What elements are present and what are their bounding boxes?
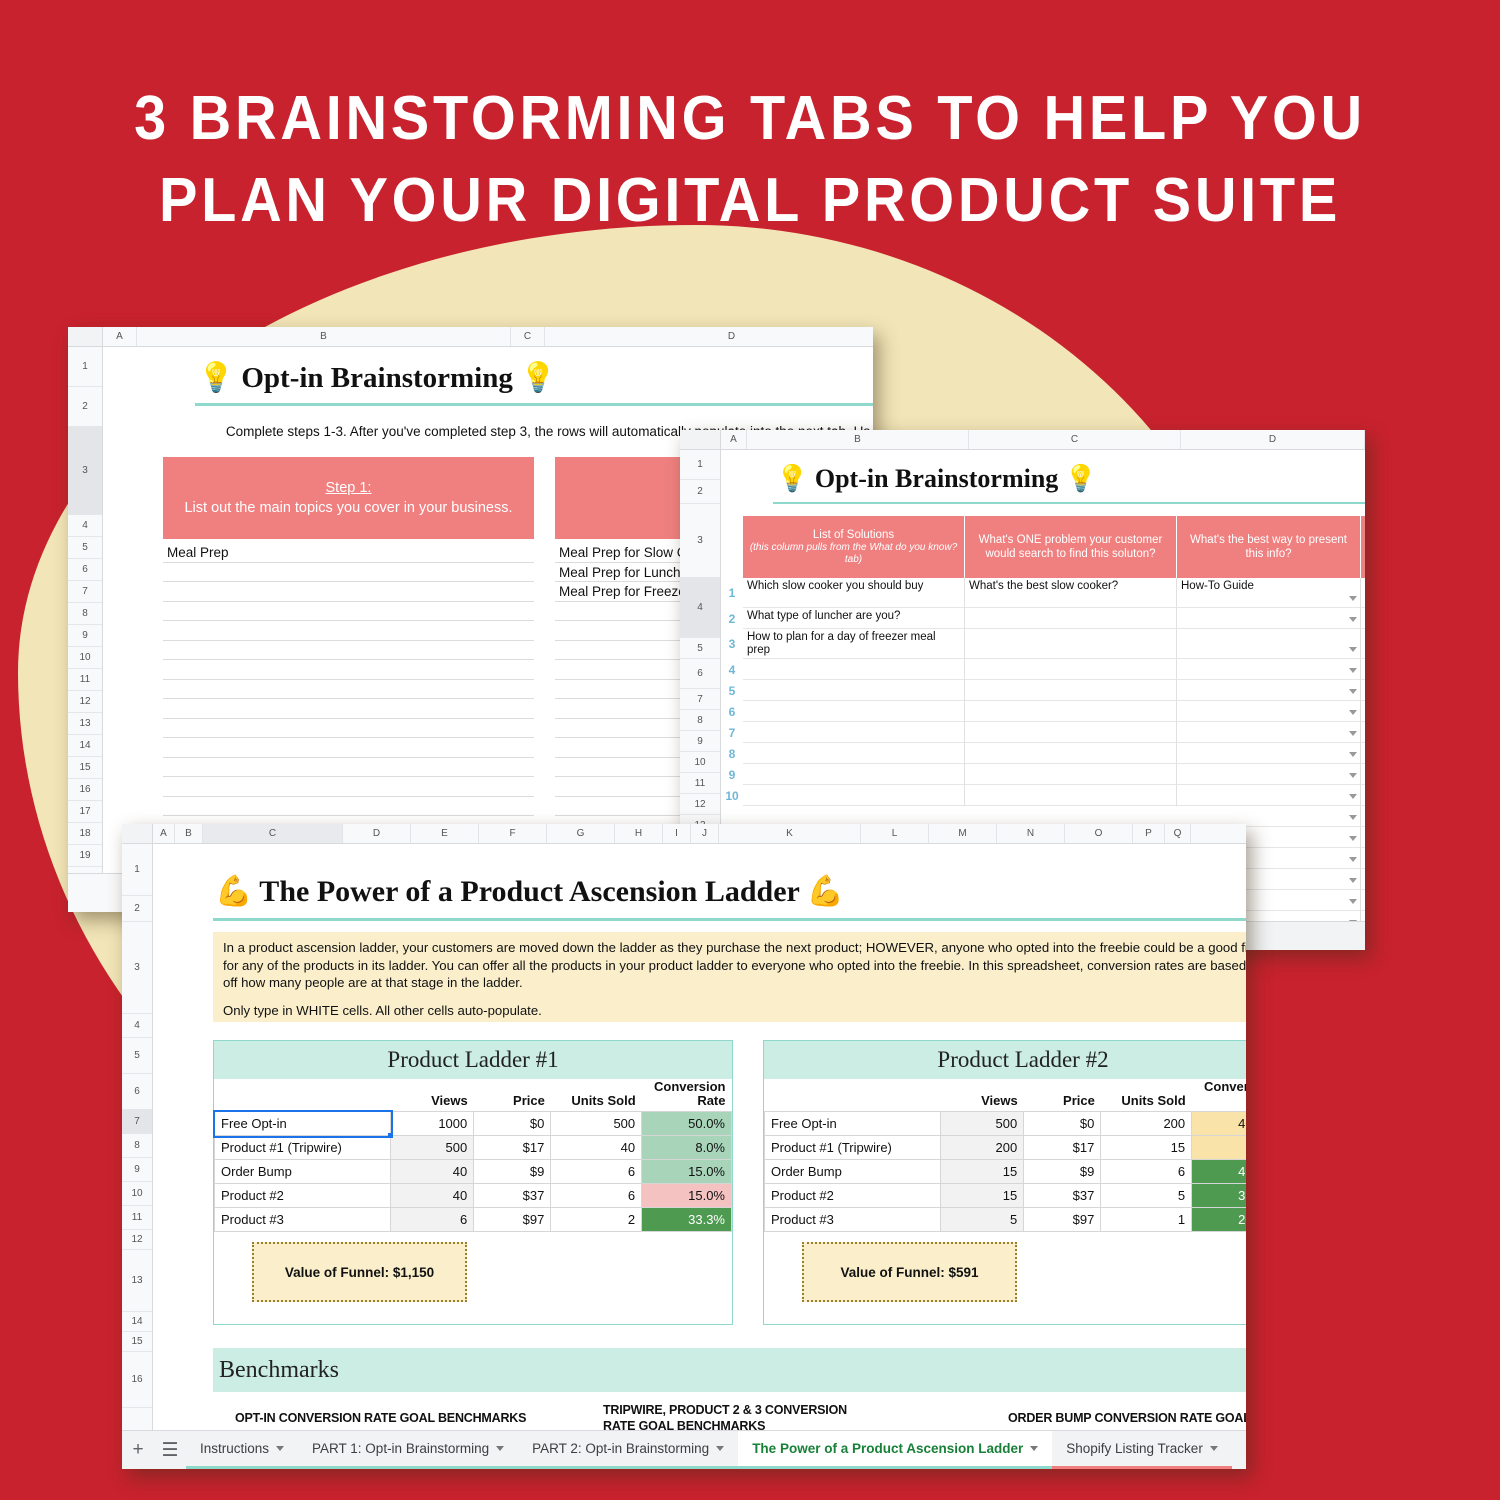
column-header-d-sheet2[interactable]: D (1181, 430, 1365, 449)
solution-cell[interactable] (743, 722, 965, 743)
page-title: 3 BRAINSTORMING TABS TO HELP YOU PLAN YO… (53, 78, 1448, 242)
dropdown-caret-icon[interactable] (1349, 731, 1357, 736)
product-ladder-1-panel: Product Ladder #1 ViewsPriceUnits SoldCo… (213, 1040, 733, 1325)
ladder-product-name[interactable]: Free Opt-in (765, 1112, 941, 1136)
format-cell[interactable] (1177, 629, 1361, 659)
row-header-sheet1-18[interactable]: 18 (68, 823, 102, 845)
extra-cell[interactable] (1361, 701, 1365, 722)
row-header-sheet1-3[interactable]: 3 (68, 427, 102, 515)
ladder-views-value[interactable]: 6 (391, 1208, 474, 1232)
row-header-sheet2-5[interactable]: 5 (680, 638, 720, 659)
column-header-c-sheet2[interactable]: C (969, 430, 1181, 449)
product-ladder-2-table[interactable]: ViewsPriceUnits SoldConversionRateFree O… (764, 1079, 1246, 1232)
row-header-sheet2-10[interactable]: 10 (680, 752, 720, 773)
page-title-line-1: 3 BRAINSTORMING TABS TO HELP YOU (53, 78, 1448, 160)
column-header-a[interactable]: A (103, 327, 137, 346)
row-header-sheet2-2[interactable]: 2 (680, 480, 720, 504)
intro-paragraph-1: In a product ascension ladder, your cust… (223, 939, 1246, 992)
row-header-sheet3-12[interactable]: 12 (122, 1230, 152, 1250)
topic-cell[interactable] (163, 758, 534, 778)
format-cell[interactable]: How-To Guide (1177, 578, 1361, 608)
extra-cell[interactable]: The (1361, 578, 1365, 608)
row-header-sheet1-15[interactable]: 15 (68, 757, 102, 779)
ladder-product-name[interactable]: Free Opt-in (215, 1112, 391, 1136)
row-header-sheet1-9[interactable]: 9 (68, 625, 102, 647)
dropdown-caret-icon[interactable] (1349, 899, 1357, 904)
column-header-sheet3-F[interactable]: F (479, 824, 547, 843)
topic-cell[interactable] (163, 621, 534, 641)
dropdown-caret-icon[interactable] (1349, 815, 1357, 820)
topic-cell[interactable] (163, 699, 534, 719)
problem-cell[interactable] (965, 629, 1177, 659)
solution-cell[interactable]: What type of luncher are you? (743, 608, 965, 629)
solution-index-9: 9 (721, 764, 743, 785)
sheet1-title-rule (195, 403, 873, 406)
column-header-sheet3-P[interactable]: P (1133, 824, 1165, 843)
column-header-a-sheet2[interactable]: A (721, 430, 747, 449)
funnel-value-box-2: Value of Funnel: $591 (802, 1242, 1017, 1302)
tab-dropdown-caret-icon[interactable] (1030, 1446, 1038, 1451)
ladder-table-header-row: ViewsPriceUnits SoldConversionRate (765, 1079, 1247, 1112)
ladder-table-row[interactable]: Product #36$97233.3% (215, 1208, 732, 1232)
tab-dropdown-caret-icon[interactable] (496, 1446, 504, 1451)
header-best-format: What's the best way to present this info… (1177, 516, 1361, 578)
row-header-sheet2-9[interactable]: 9 (680, 731, 720, 752)
row-header-sheet3-1[interactable]: 1 (122, 844, 152, 896)
header-list-of-solutions: List of Solutions (this column pulls fro… (743, 516, 965, 578)
problem-cell[interactable] (965, 659, 1177, 680)
row-header-sheet1-2[interactable]: 2 (68, 387, 102, 427)
solution-cell[interactable] (743, 680, 965, 701)
empty-cell[interactable] (1361, 848, 1365, 869)
dropdown-caret-icon[interactable] (1349, 836, 1357, 841)
solution-index-8: 8 (721, 743, 743, 764)
column-header-sheet3-L[interactable]: L (861, 824, 929, 843)
ladder-conversion-rate-value[interactable]: 33.3% (1192, 1184, 1246, 1208)
row-header-sheet3-10[interactable]: 10 (122, 1182, 152, 1206)
sheet-tab-label: Instructions (200, 1441, 269, 1456)
intro-note-box: In a product ascension ladder, your cust… (213, 932, 1246, 1022)
ladder-conversion-rate-value[interactable]: 50.0% (642, 1112, 732, 1136)
column-header-row-sheet2: A B C D E (680, 430, 1365, 450)
ladder-views-value[interactable]: 200 (941, 1136, 1024, 1160)
column-header-b-sheet2[interactable]: B (747, 430, 969, 449)
row-header-sheet3-7[interactable]: 7 (122, 1110, 152, 1134)
row-header-sheet3-9[interactable]: 9 (122, 1158, 152, 1182)
ladder-header-price: Price (474, 1079, 551, 1112)
step1-text: List out the main topics you cover in yo… (184, 498, 512, 518)
solution-index-4: 4 (721, 659, 743, 680)
topic-cell[interactable]: Meal Prep (163, 543, 534, 563)
row-header-sheet1-12[interactable]: 12 (68, 691, 102, 713)
dropdown-caret-icon[interactable] (1349, 710, 1357, 715)
problem-cell[interactable]: What's the best slow cooker? (965, 578, 1177, 608)
header-customer-problem: What's ONE problem your customer would s… (965, 516, 1177, 578)
row-header-sheet1-16[interactable]: 16 (68, 779, 102, 801)
row-header-sheet3-3[interactable]: 3 (122, 922, 152, 1014)
format-cell[interactable] (1177, 722, 1361, 743)
sheet2-title-rule (773, 502, 1365, 504)
row-header-sheet2-12[interactable]: 12 (680, 794, 720, 815)
column-header-sheet3-H[interactable]: H (615, 824, 663, 843)
empty-cell[interactable] (1361, 806, 1365, 827)
column-header-sheet3-N[interactable]: N (997, 824, 1065, 843)
solution-index-10: 10 (721, 785, 743, 806)
row-header-sheet3-5[interactable]: 5 (122, 1038, 152, 1074)
ladder-views-value[interactable]: 500 (391, 1136, 474, 1160)
row-header-sheet2-11[interactable]: 11 (680, 773, 720, 794)
add-sheet-icon[interactable]: + (122, 1431, 154, 1469)
row-header-sheet1-19[interactable]: 19 (68, 845, 102, 867)
sheet-tab-1[interactable]: Instructions (186, 1431, 298, 1469)
row-header-sheet1-1[interactable]: 1 (68, 347, 102, 387)
funnel-value-label-2: Value of Funnel: (840, 1265, 944, 1280)
ladder-price-value[interactable]: $0 (1024, 1112, 1101, 1136)
dropdown-caret-icon[interactable] (1349, 647, 1357, 652)
topic-cell[interactable] (163, 680, 534, 700)
ladder-views-value[interactable]: 40 (391, 1184, 474, 1208)
benchmarks-section-title: Benchmarks (213, 1348, 1246, 1392)
row-header-sheet3-16[interactable]: 16 (122, 1352, 152, 1408)
column-header-sheet3-J[interactable]: J (691, 824, 719, 843)
benchmark-label-optin: OPT-IN CONVERSION RATE GOAL BENCHMARKS (235, 1410, 565, 1426)
row-header-sheet2-8[interactable]: 8 (680, 710, 720, 731)
extra-cell[interactable] (1361, 743, 1365, 764)
row-header-sheet3-15[interactable]: 15 (122, 1332, 152, 1352)
select-all-corner-sheet1[interactable] (68, 327, 103, 346)
sheet2-title: 💡 Opt-in Brainstorming 💡 (776, 464, 1097, 494)
dropdown-caret-icon[interactable] (1349, 857, 1357, 862)
ladder-table-row[interactable]: Product #1 (Tripwire)200$17157.5% (765, 1136, 1247, 1160)
column-header-b[interactable]: B (137, 327, 511, 346)
topic-cell[interactable] (163, 660, 534, 680)
topic-cell[interactable] (163, 777, 534, 797)
column-header-c[interactable]: C (511, 327, 545, 346)
intro-paragraph-2: Only type in WHITE cells. All other cell… (223, 1002, 1246, 1020)
ladder-price-value[interactable]: $37 (474, 1184, 551, 1208)
sheet-tab-5[interactable]: Shopify Listing Tracker (1052, 1431, 1232, 1469)
ladder-header-units: Units Sold (551, 1079, 642, 1112)
grid-sheet3[interactable]: 💪 The Power of a Product Ascension Ladde… (153, 844, 1246, 1432)
sheet-tab-label: PART 1: Opt-in Brainstorming (312, 1441, 489, 1456)
ladder-header-rate-line1: Conversion (648, 1080, 726, 1094)
ladder-conversion-rate-value[interactable]: 40.0% (1192, 1160, 1246, 1184)
step1-instruction-box: Step 1: List out the main topics you cov… (163, 457, 534, 539)
funnel-value-label-1: Value of Funnel: (285, 1265, 389, 1280)
row-header-sheet2-3[interactable]: 3 (680, 504, 720, 578)
format-cell[interactable] (1177, 608, 1361, 629)
dropdown-caret-icon[interactable] (1349, 617, 1357, 622)
topic-cell[interactable] (163, 719, 534, 739)
problem-cell[interactable] (965, 764, 1177, 785)
row-header-sheet1-6[interactable]: 6 (68, 559, 102, 581)
problem-cell[interactable] (965, 680, 1177, 701)
row-header-sheet2-7[interactable]: 7 (680, 689, 720, 710)
problem-cell[interactable] (965, 743, 1177, 764)
topic-cell[interactable] (163, 602, 534, 622)
column-header-sheet3-A[interactable]: A (153, 824, 175, 843)
solution-cell[interactable] (743, 764, 965, 785)
ladder-conversion-rate-value[interactable]: 15.0% (642, 1184, 732, 1208)
format-cell[interactable] (1177, 659, 1361, 680)
ladder-units-sold-value[interactable]: 6 (551, 1160, 642, 1184)
sheet3-title: 💪 The Power of a Product Ascension Ladde… (215, 874, 844, 909)
ladder-header-price: Price (1024, 1079, 1101, 1112)
ladder-table-row[interactable]: Product #215$37533.3% (765, 1184, 1247, 1208)
ladder-product-name[interactable]: Product #1 (Tripwire) (765, 1136, 941, 1160)
ladder-units-sold-value[interactable]: 15 (1101, 1136, 1192, 1160)
column-header-sheet3-M[interactable]: M (929, 824, 997, 843)
ladder-table-row[interactable]: Product #240$37615.0% (215, 1184, 732, 1208)
column-header-sheet3-I[interactable]: I (663, 824, 691, 843)
ladder-price-value[interactable]: $9 (474, 1160, 551, 1184)
ladder-conversion-rate-value[interactable]: 15.0% (642, 1160, 732, 1184)
ladder-header-blank (215, 1079, 391, 1112)
sheet3-title-rule (213, 918, 1246, 921)
ladder-price-value[interactable]: $37 (1024, 1184, 1101, 1208)
format-cell[interactable] (1177, 701, 1361, 722)
sheet-tab-2[interactable]: PART 1: Opt-in Brainstorming (298, 1431, 518, 1469)
topic-cell[interactable] (163, 641, 534, 661)
ladder-table-header-row: ViewsPriceUnits SoldConversionRate (215, 1079, 732, 1112)
ladder-product-name[interactable]: Product #3 (215, 1208, 391, 1232)
ladder-views-value[interactable]: 15 (941, 1160, 1024, 1184)
extra-cell[interactable] (1361, 680, 1365, 701)
ladder-header-views: Views (941, 1079, 1024, 1112)
ladder-product-name[interactable]: Product #1 (Tripwire) (215, 1136, 391, 1160)
extra-cell[interactable] (1361, 608, 1365, 629)
product-ladder-1-table[interactable]: ViewsPriceUnits SoldConversionRateFree O… (214, 1079, 732, 1232)
row-header-sheet3-2[interactable]: 2 (122, 896, 152, 922)
extra-cell[interactable] (1361, 764, 1365, 785)
extra-cell[interactable] (1361, 785, 1365, 806)
row-header-sheet1-5[interactable]: 5 (68, 537, 102, 559)
problem-cell[interactable] (965, 722, 1177, 743)
ladder-units-sold-value[interactable]: 1 (1101, 1208, 1192, 1232)
ladder-product-name[interactable]: Product #2 (765, 1184, 941, 1208)
column-header-sheet3-E[interactable]: E (411, 824, 479, 843)
empty-cell[interactable] (1361, 869, 1365, 890)
solution-index-1: 1 (721, 578, 743, 608)
tab-dropdown-caret-icon[interactable] (716, 1446, 724, 1451)
row-header-sheet2-6[interactable]: 6 (680, 659, 720, 689)
column-header-sheet3-D[interactable]: D (343, 824, 411, 843)
ladder-conversion-rate-value[interactable]: 7.5% (1192, 1136, 1246, 1160)
row-header-sheet3-14[interactable]: 14 (122, 1312, 152, 1332)
ladder-header-rate-line2: Rate (648, 1094, 726, 1108)
ladder-conversion-rate-value[interactable]: 8.0% (642, 1136, 732, 1160)
solution-cell[interactable] (743, 659, 965, 680)
sheet-tab-label: Shopify Listing Tracker (1066, 1441, 1203, 1456)
ladder-views-value[interactable]: 15 (941, 1184, 1024, 1208)
column-header-row-sheet3: ABCDEFGHIJKLMNOPQ (122, 824, 1246, 844)
sheet-tab-4[interactable]: The Power of a Product Ascension Ladder (738, 1431, 1052, 1469)
ladder-product-name[interactable]: Order Bump (215, 1160, 391, 1184)
ladder-units-sold-value[interactable]: 40 (551, 1136, 642, 1160)
ladder-header-conversion-rate: ConversionRate (642, 1079, 732, 1112)
topic-cell[interactable] (163, 797, 534, 817)
solution-cell[interactable] (743, 701, 965, 722)
column-header-d[interactable]: D (545, 327, 873, 346)
column-header-sheet3-C[interactable]: C (203, 824, 343, 843)
solution-index-5: 5 (721, 680, 743, 701)
ladder-product-name[interactable]: Product #2 (215, 1184, 391, 1208)
row-header-sheet3-4[interactable]: 4 (122, 1014, 152, 1038)
row-header-column-sheet3: 12345678910111213141516 (122, 844, 153, 1432)
product-ladder-1-title: Product Ladder #1 (214, 1041, 732, 1079)
product-ladder-2-title: Product Ladder #2 (764, 1041, 1246, 1079)
dropdown-caret-icon[interactable] (1349, 878, 1357, 883)
topic-cell[interactable] (163, 563, 534, 583)
topic-cell[interactable] (163, 738, 534, 758)
sheet-tab-bar[interactable]: + ☰ InstructionsPART 1: Opt-in Brainstor… (122, 1430, 1246, 1469)
column-header-row-sheet1: A B C D E (68, 327, 873, 347)
ladder-table-row[interactable]: Free Opt-in500$020040.0% (765, 1112, 1247, 1136)
ladder-conversion-rate-value[interactable]: 33.3% (642, 1208, 732, 1232)
dropdown-caret-icon[interactable] (1349, 773, 1357, 778)
spreadsheet-window-ascension-ladder[interactable]: ABCDEFGHIJKLMNOPQ 1234567891011121314151… (122, 824, 1246, 1469)
ladder-header-rate-line2: Rate (1198, 1094, 1246, 1108)
ladder-conversion-rate-value[interactable]: 40.0% (1192, 1112, 1246, 1136)
funnel-value-amount-2: $591 (948, 1265, 978, 1280)
format-cell[interactable] (1177, 764, 1361, 785)
ladder-price-value[interactable]: $17 (474, 1136, 551, 1160)
sheet-tabs-list[interactable]: InstructionsPART 1: Opt-in Brainstorming… (186, 1431, 1232, 1469)
ladder-price-value[interactable]: $0 (474, 1112, 551, 1136)
funnel-value-box-1: Value of Funnel: $1,150 (252, 1242, 467, 1302)
header-column-e: W (1361, 516, 1365, 578)
ladder-price-value[interactable]: $97 (474, 1208, 551, 1232)
solution-index-6: 6 (721, 701, 743, 722)
extra-cell[interactable] (1361, 722, 1365, 743)
ladder-units-sold-value[interactable]: 6 (1101, 1160, 1192, 1184)
ladder-views-value[interactable]: 5 (941, 1208, 1024, 1232)
dropdown-caret-icon[interactable] (1349, 668, 1357, 673)
row-header-sheet3-13[interactable]: 13 (122, 1250, 152, 1312)
ladder-units-sold-value[interactable]: 500 (551, 1112, 642, 1136)
dropdown-caret-icon[interactable] (1349, 794, 1357, 799)
sheet-tab-label: The Power of a Product Ascension Ladder (752, 1441, 1023, 1456)
dropdown-caret-icon[interactable] (1349, 752, 1357, 757)
problem-cell[interactable] (965, 608, 1177, 629)
row-header-sheet1-7[interactable]: 7 (68, 581, 102, 603)
format-cell[interactable] (1177, 785, 1361, 806)
solution-cell[interactable] (743, 785, 965, 806)
row-header-sheet1-8[interactable]: 8 (68, 603, 102, 625)
tab-dropdown-caret-icon[interactable] (276, 1446, 284, 1451)
ladder-price-value[interactable]: $17 (1024, 1136, 1101, 1160)
ladder-price-value[interactable]: $97 (1024, 1208, 1101, 1232)
row-header-sheet1-4[interactable]: 4 (68, 515, 102, 537)
ladder-header-views: Views (391, 1079, 474, 1112)
column-header-sheet3-G[interactable]: G (547, 824, 615, 843)
ladder-views-value[interactable]: 40 (391, 1160, 474, 1184)
ladder-views-value[interactable]: 500 (941, 1112, 1024, 1136)
sheet-tab-label: PART 2: Opt-in Brainstorming (532, 1441, 709, 1456)
tab-dropdown-caret-icon[interactable] (1210, 1446, 1218, 1451)
product-ladder-2-panel: Product Ladder #2 ViewsPriceUnits SoldCo… (763, 1040, 1246, 1325)
select-all-corner-sheet2[interactable] (680, 430, 721, 449)
format-cell[interactable] (1177, 743, 1361, 764)
problem-cell[interactable] (965, 785, 1177, 806)
column-header-sheet3-B[interactable]: B (175, 824, 203, 843)
problem-cell[interactable] (965, 701, 1177, 722)
row-header-sheet2-4[interactable]: 4 (680, 578, 720, 638)
sheet1-title: 💡 Opt-in Brainstorming 💡 (198, 361, 556, 395)
ladder-header-rate-line1: Conversion (1198, 1080, 1246, 1094)
extra-cell[interactable] (1361, 659, 1365, 680)
column-header-sheet3-K[interactable]: K (719, 824, 861, 843)
ladder-header-conversion-rate: ConversionRate (1192, 1079, 1246, 1112)
row-header-sheet1-17[interactable]: 17 (68, 801, 102, 823)
row-header-sheet3-6[interactable]: 6 (122, 1074, 152, 1110)
row-header-sheet3-8[interactable]: 8 (122, 1134, 152, 1158)
row-header-sheet1-11[interactable]: 11 (68, 669, 102, 691)
benchmark-label-orderbump: ORDER BUMP CONVERSION RATE GOAL BEN (1008, 1410, 1246, 1426)
row-header-sheet1-10[interactable]: 10 (68, 647, 102, 669)
row-header-sheet1-14[interactable]: 14 (68, 735, 102, 757)
row-header-sheet1-13[interactable]: 13 (68, 713, 102, 735)
solution-cell[interactable]: How to plan for a day of freezer meal pr… (743, 629, 965, 659)
solution-index-2: 2 (721, 608, 743, 629)
ladder-table-row[interactable]: Free Opt-in1000$050050.0% (215, 1112, 732, 1136)
ladder-units-sold-value[interactable]: 6 (551, 1184, 642, 1208)
empty-cell[interactable] (1361, 827, 1365, 848)
ladder-conversion-rate-value[interactable]: 20.0% (1192, 1208, 1246, 1232)
solution-index-column: 12345678910 (721, 578, 743, 806)
dropdown-caret-icon[interactable] (1349, 689, 1357, 694)
column-header-sheet3-Q[interactable]: Q (1165, 824, 1191, 843)
select-all-corner-sheet3[interactable] (122, 824, 153, 843)
ladder-product-name[interactable]: Order Bump (765, 1160, 941, 1184)
ladder-table-row[interactable]: Product #35$97120.0% (765, 1208, 1247, 1232)
row-header-sheet3-11[interactable]: 11 (122, 1206, 152, 1230)
column-header-sheet3-O[interactable]: O (1065, 824, 1133, 843)
ladder-units-sold-value[interactable]: 200 (1101, 1112, 1192, 1136)
row-header-column-sheet1: 1234567891011121314151617181920212223 (68, 347, 103, 875)
solution-cell[interactable] (743, 743, 965, 764)
empty-cell[interactable] (1361, 890, 1365, 911)
extra-cell[interactable] (1361, 629, 1365, 659)
solution-cell[interactable]: Which slow cooker you should buy (743, 578, 965, 608)
topic-cell[interactable] (163, 582, 534, 602)
solution-index-3: 3 (721, 629, 743, 659)
funnel-value-amount-1: $1,150 (393, 1265, 434, 1280)
row-header-sheet2-1[interactable]: 1 (680, 450, 720, 480)
ladder-table-row[interactable]: Order Bump15$9640.0% (765, 1160, 1247, 1184)
ladder-table-row[interactable]: Product #1 (Tripwire)500$17408.0% (215, 1136, 732, 1160)
dropdown-caret-icon[interactable] (1349, 596, 1357, 601)
page-title-line-2: PLAN YOUR DIGITAL PRODUCT SUITE (53, 160, 1448, 242)
ladder-header-units: Units Sold (1101, 1079, 1192, 1112)
format-cell[interactable] (1177, 680, 1361, 701)
ladder-table-row[interactable]: Order Bump40$9615.0% (215, 1160, 732, 1184)
ladder-price-value[interactable]: $9 (1024, 1160, 1101, 1184)
ladder-units-sold-value[interactable]: 5 (1101, 1184, 1192, 1208)
all-sheets-icon[interactable]: ☰ (154, 1431, 186, 1469)
sheet-tab-3[interactable]: PART 2: Opt-in Brainstorming (518, 1431, 738, 1469)
ladder-units-sold-value[interactable]: 2 (551, 1208, 642, 1232)
ladder-product-name[interactable]: Product #3 (765, 1208, 941, 1232)
step1-label: Step 1: (326, 478, 372, 498)
ladder-header-blank (765, 1079, 941, 1112)
header-list-of-solutions-main: List of Solutions (813, 528, 894, 542)
solution-index-7: 7 (721, 722, 743, 743)
ladder-views-value[interactable]: 1000 (391, 1112, 474, 1136)
header-list-of-solutions-note: (this column pulls from the What do you … (748, 542, 959, 566)
